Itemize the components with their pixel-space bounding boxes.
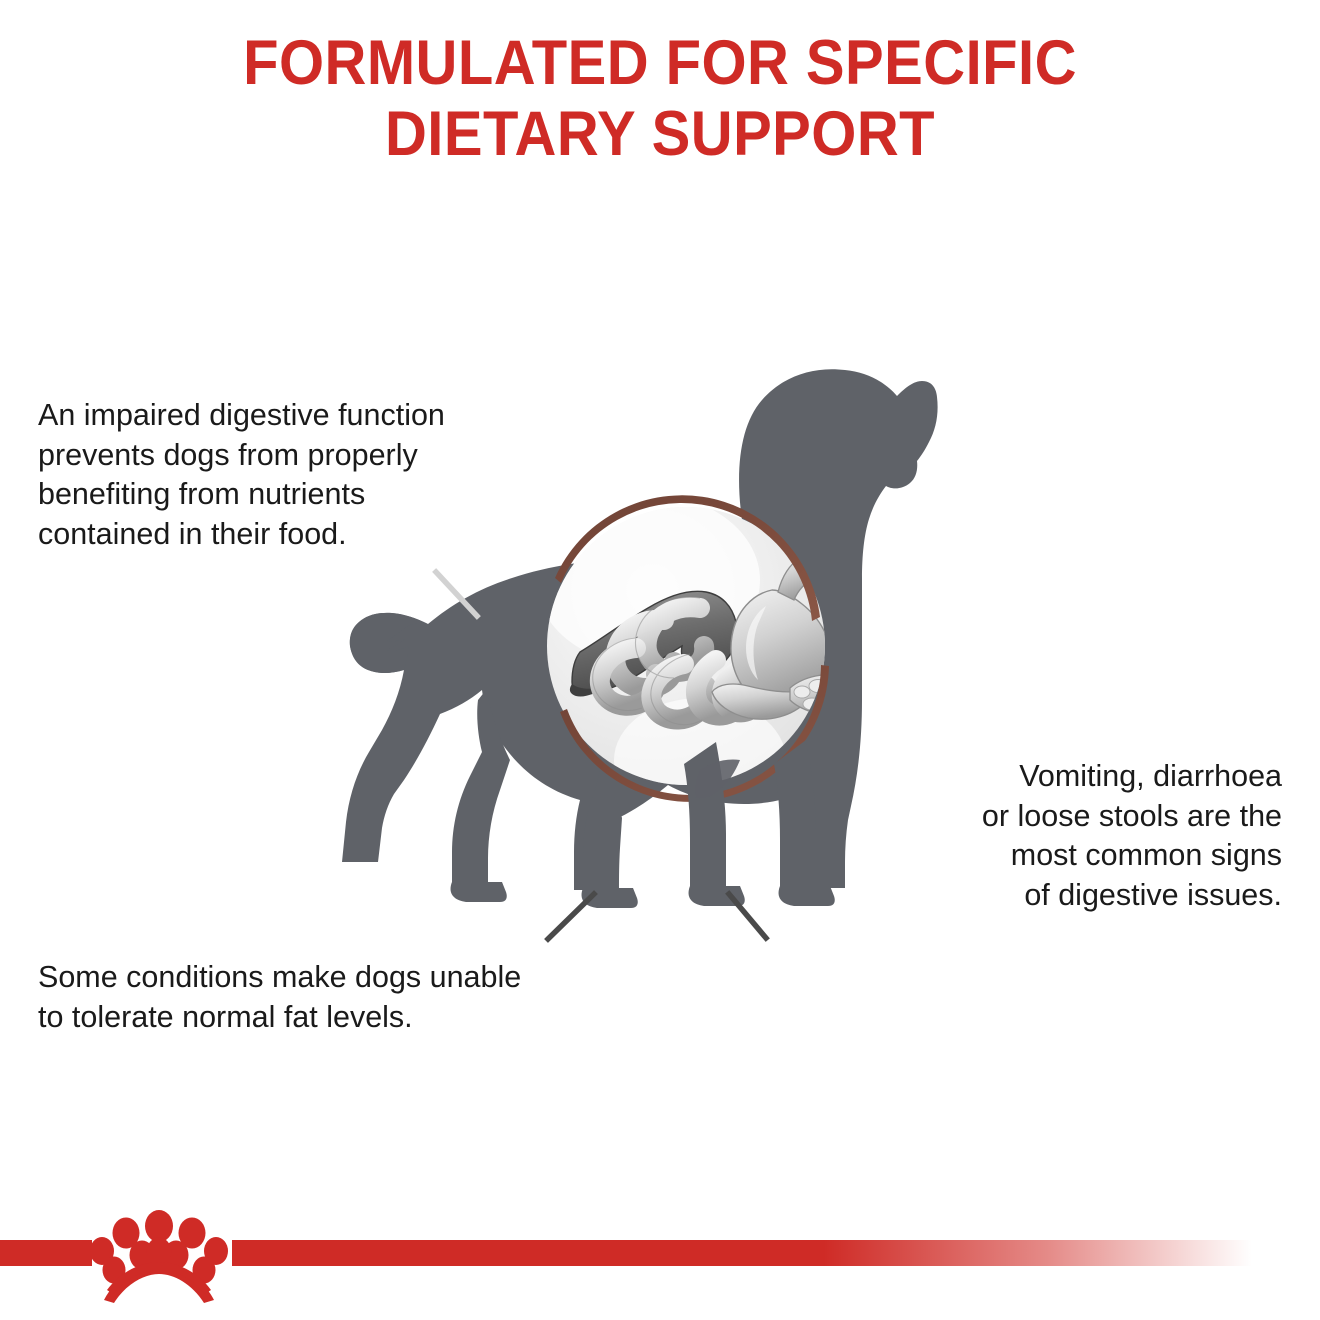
- callout-top-left-line-2: prevents dogs from properly: [38, 436, 445, 476]
- callout-top-left-line-3: benefiting from nutrients: [38, 475, 445, 515]
- footer-bar-right: [232, 1240, 1252, 1266]
- leader-lines: [0, 0, 1320, 1320]
- callout-top-left: An impaired digestive function prevents …: [38, 396, 445, 555]
- callout-right-line-2: or loose stools are the: [982, 797, 1282, 837]
- callout-right-line-3: most common signs: [982, 836, 1282, 876]
- royal-canin-crown-logo: [88, 1204, 230, 1304]
- callout-bottom-left-line-1: Some conditions make dogs unable: [38, 958, 521, 998]
- infographic-canvas: FORMULATED FOR SPECIFIC DIETARY SUPPORT: [0, 0, 1320, 1320]
- leader-line-top-left: [40, 572, 477, 616]
- callout-bottom-left-line-2: to tolerate normal fat levels.: [38, 998, 521, 1038]
- callout-top-left-line-1: An impaired digestive function: [38, 396, 445, 436]
- callout-right-line-1: Vomiting, diarrhoea: [982, 757, 1282, 797]
- leader-line-bottom-left: [38, 894, 594, 939]
- footer: [0, 1232, 1320, 1272]
- callout-right: Vomiting, diarrhoea or loose stools are …: [982, 757, 1282, 916]
- callout-right-line-4: of digestive issues.: [982, 876, 1282, 916]
- callout-bottom-left: Some conditions make dogs unable to tole…: [38, 958, 521, 1037]
- footer-bar-left: [0, 1240, 92, 1266]
- callout-top-left-line-4: contained in their food.: [38, 515, 445, 555]
